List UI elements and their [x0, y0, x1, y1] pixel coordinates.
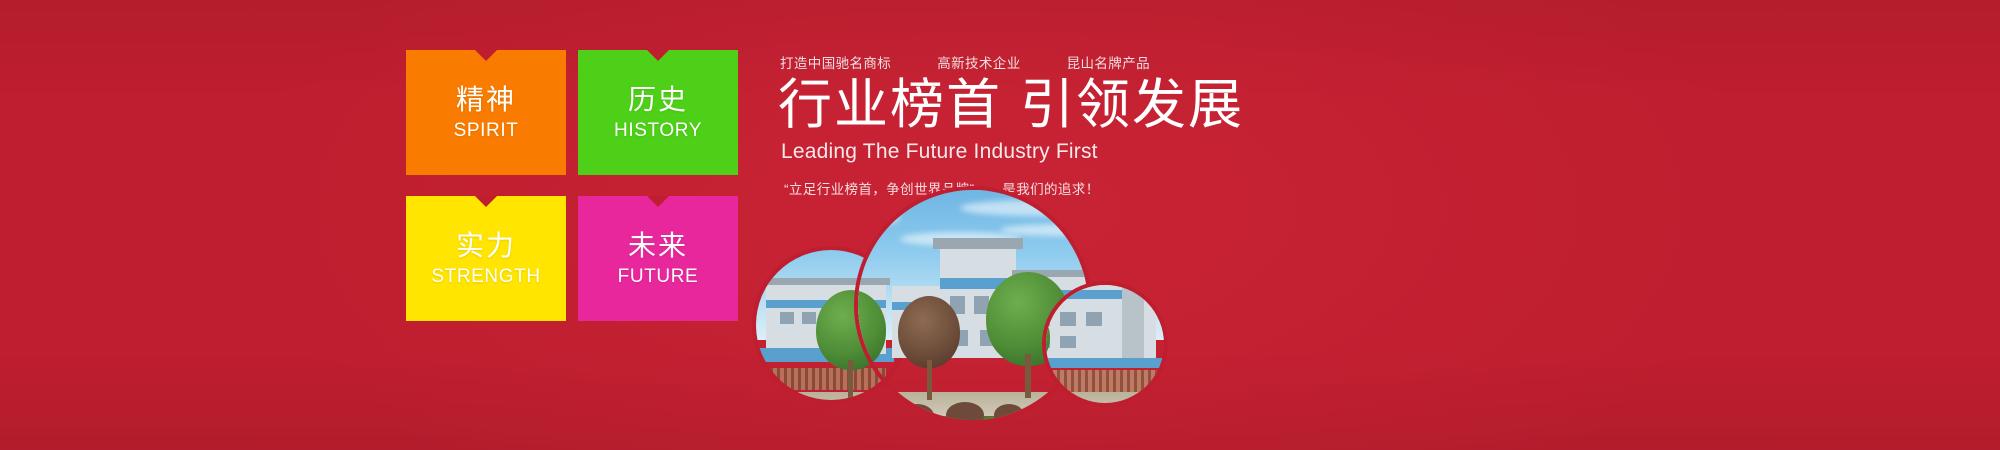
- photo-lobe-right: [1046, 285, 1164, 403]
- tile-history-en: HISTORY: [578, 121, 738, 140]
- tile-history-cn: 历史: [578, 86, 738, 114]
- value-tiles-group: 精神 SPIRIT 历史 HISTORY 实力 STRENGTH 未来 FUTU…: [406, 50, 738, 320]
- headline-part-2: 引领发展: [1020, 75, 1244, 135]
- tile-history-label: 历史 HISTORY: [578, 86, 738, 140]
- notch-icon: [475, 196, 497, 207]
- tile-strength-label: 实力 STRENGTH: [406, 232, 566, 286]
- headline-block: 打造中国驰名商标 高新技术企业 昆山名牌产品 行业榜首引领发展 Leading …: [778, 52, 1298, 198]
- tile-strength-cn: 实力: [406, 232, 566, 260]
- tile-spirit-label: 精神 SPIRIT: [406, 86, 566, 140]
- tile-future-cn: 未来: [578, 232, 738, 260]
- tile-history[interactable]: 历史 HISTORY: [578, 50, 738, 175]
- tile-spirit-cn: 精神: [406, 86, 566, 114]
- notch-icon: [475, 50, 497, 61]
- notch-icon: [647, 50, 669, 61]
- factory-photo-collage: [750, 190, 1170, 450]
- tile-spirit[interactable]: 精神 SPIRIT: [406, 50, 566, 175]
- tile-spirit-en: SPIRIT: [406, 121, 566, 140]
- promo-banner: 精神 SPIRIT 历史 HISTORY 实力 STRENGTH 未来 FUTU…: [0, 0, 2000, 450]
- tagline-2: 高新技术企业: [937, 52, 1020, 72]
- factory-photo-image: [1046, 285, 1164, 403]
- subheadline: Leading The Future Industry First: [781, 140, 1298, 164]
- tagline-row: 打造中国驰名商标 高新技术企业 昆山名牌产品: [778, 52, 1298, 70]
- headline-part-1: 行业榜首: [778, 75, 1002, 135]
- tile-future-en: FUTURE: [578, 267, 738, 286]
- tile-future[interactable]: 未来 FUTURE: [578, 196, 738, 321]
- notch-icon: [647, 196, 669, 207]
- tagline-3: 昆山名牌产品: [1067, 52, 1150, 72]
- tile-future-label: 未来 FUTURE: [578, 232, 738, 286]
- tile-strength-en: STRENGTH: [406, 267, 566, 286]
- page-title: 行业榜首引领发展: [778, 77, 1298, 134]
- tagline-1: 打造中国驰名商标: [780, 52, 891, 72]
- tile-strength[interactable]: 实力 STRENGTH: [406, 196, 566, 321]
